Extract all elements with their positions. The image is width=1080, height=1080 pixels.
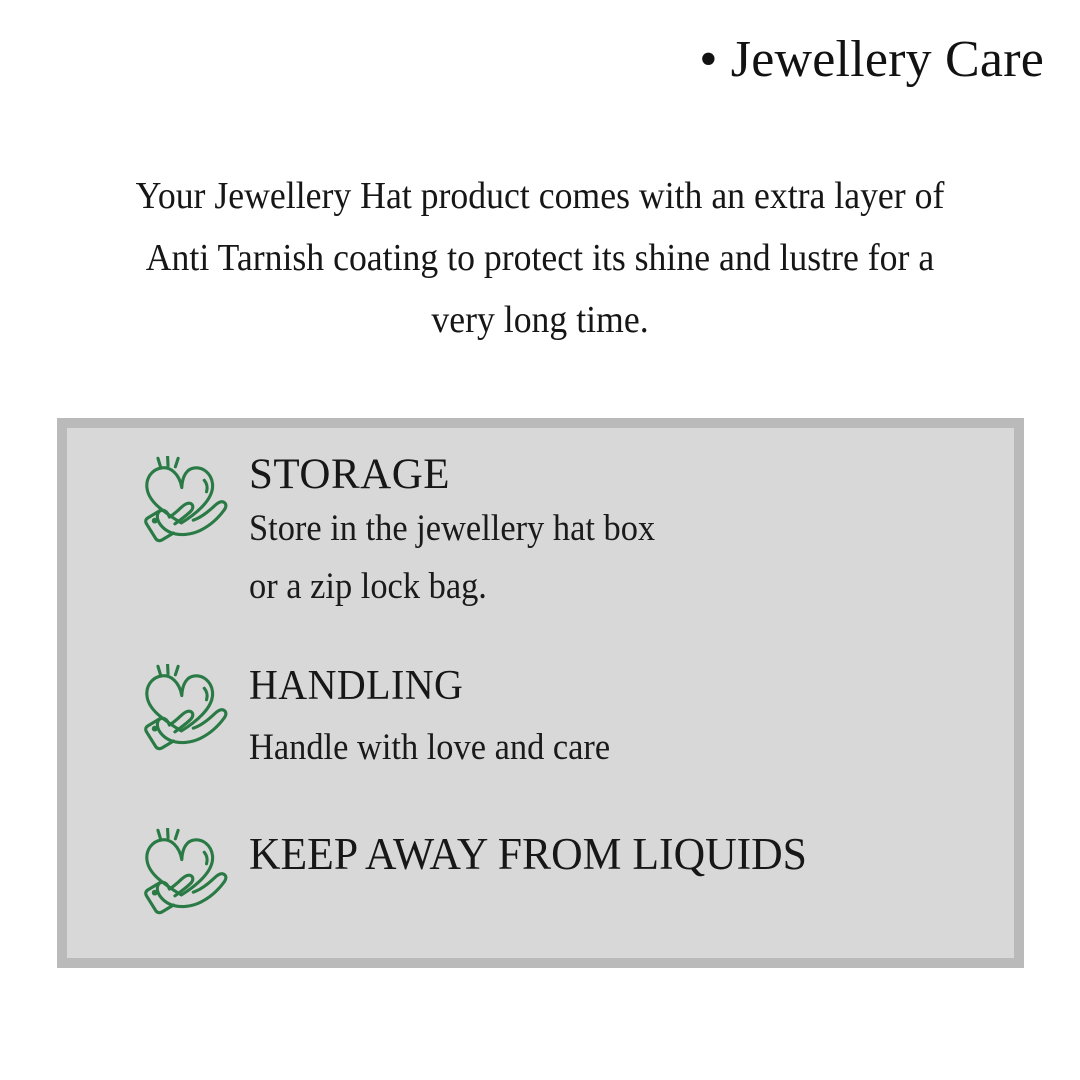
- care-rows: STORAGE Store in the jewellery hat box o…: [67, 428, 1014, 958]
- care-line: Store in the jewellery hat box: [249, 500, 655, 558]
- page-title: • Jewellery Care: [0, 32, 1044, 88]
- care-heading: HANDLING: [249, 660, 618, 712]
- care-heading: KEEP AWAY FROM LIQUIDS: [249, 826, 807, 882]
- intro-paragraph: Your Jewellery Hat product comes with an…: [111, 165, 968, 351]
- care-row-storage: STORAGE Store in the jewellery hat box o…: [139, 450, 686, 616]
- hand-holding-heart-icon: [139, 828, 231, 916]
- care-row-text: HANDLING Handle with love and care: [249, 660, 637, 778]
- care-line: or a zip lock bag.: [249, 558, 655, 616]
- care-row-handling: HANDLING Handle with love and care: [139, 660, 637, 778]
- hand-holding-heart-icon: [139, 456, 231, 544]
- care-row-text: STORAGE Store in the jewellery hat box o…: [249, 450, 686, 616]
- care-row-text: KEEP AWAY FROM LIQUIDS: [249, 826, 824, 882]
- jewellery-care-infographic: • Jewellery Care Your Jewellery Hat prod…: [0, 0, 1080, 1080]
- care-row-keep-away-from-liquids: KEEP AWAY FROM LIQUIDS: [139, 826, 824, 916]
- care-instructions-panel: STORAGE Store in the jewellery hat box o…: [57, 418, 1024, 968]
- care-line: Handle with love and care: [249, 718, 610, 778]
- page-title-text: • Jewellery Care: [699, 32, 1044, 88]
- care-heading: STORAGE: [249, 451, 450, 498]
- hand-holding-heart-icon: [139, 664, 231, 752]
